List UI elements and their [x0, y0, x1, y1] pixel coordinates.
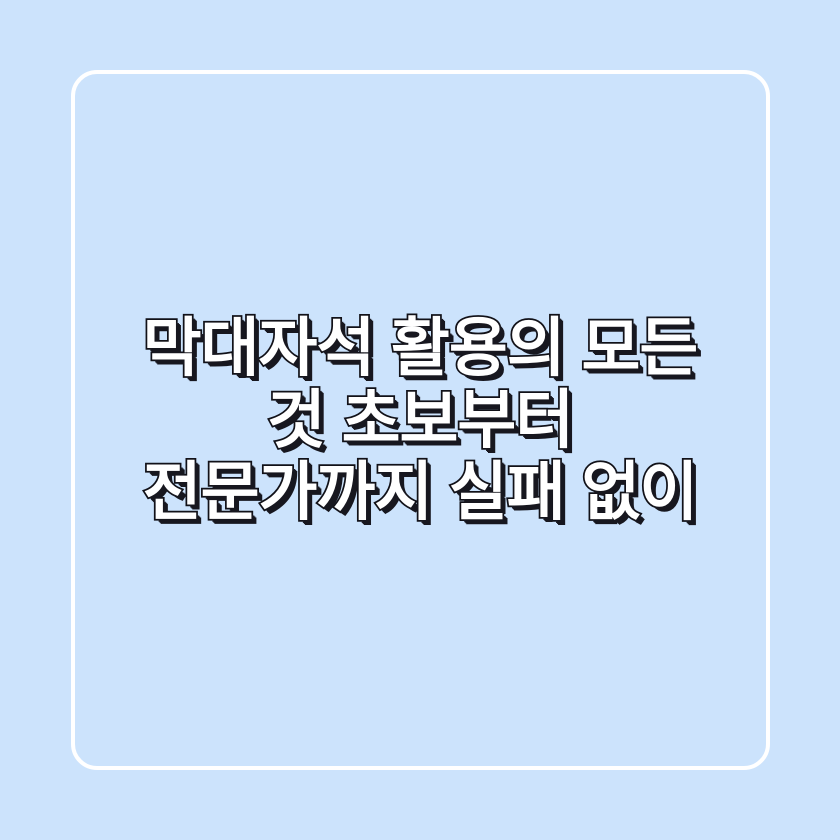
- headline-line-2: 것 초보부터: [60, 384, 780, 456]
- headline-line-3: 전문가까지 실패 없이: [60, 456, 780, 528]
- headline-block: 막대자석 활용의 모든 것 초보부터 전문가까지 실패 없이: [0, 0, 840, 840]
- headline-line-1: 막대자석 활용의 모든: [60, 312, 780, 384]
- poster-canvas: 막대자석 활용의 모든 것 초보부터 전문가까지 실패 없이: [0, 0, 840, 840]
